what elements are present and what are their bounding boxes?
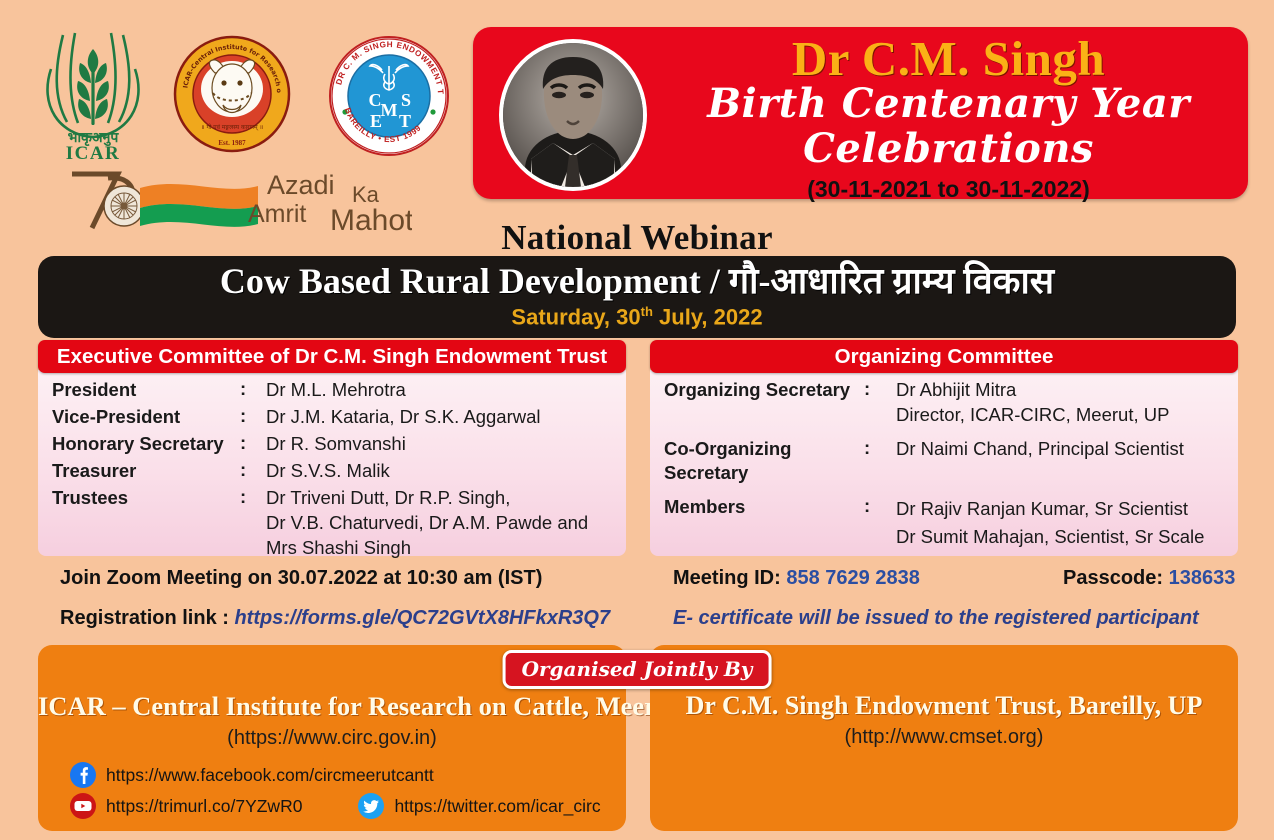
footer-right-url[interactable]: (http://www.cmset.org)	[650, 726, 1238, 749]
row-label: Organizing Secretary	[664, 378, 864, 402]
event-date-superscript: th	[641, 304, 653, 319]
row-label: Members	[664, 495, 864, 519]
row-value: Dr Abhijit Mitra Director, ICAR-CIRC, Me…	[896, 378, 1238, 428]
passcode-line: Passcode: 138633	[1063, 567, 1235, 590]
committee-row: Co-Organizing Secretary : Dr Naimi Chand…	[664, 437, 1238, 486]
row-value: Dr Rajiv Ranjan Kumar, Sr Scientist Dr S…	[896, 495, 1238, 552]
row-colon: :	[864, 495, 896, 517]
row-colon: :	[240, 459, 266, 481]
icar-logo: भाकृअनुप ICAR	[33, 27, 153, 162]
executive-committee-panel: Executive Committee of Dr C.M. Singh End…	[38, 340, 626, 556]
azadi-word-azadi: Azadi	[267, 170, 335, 200]
social-row: https://trimurl.co/7YZwR0 https://twitte…	[70, 793, 626, 819]
webinar-poster: भाकृअनुप ICAR ॥ गो एवं मङ्गलस्य कारणम् ॥…	[0, 0, 1274, 840]
row-label: Honorary Secretary	[52, 432, 240, 456]
certificate-note: E- certificate will be issued to the reg…	[673, 607, 1199, 630]
organised-jointly-by-badge: Organised Jointly By	[503, 650, 772, 689]
row-value: Dr Naimi Chand, Principal Scientist	[896, 437, 1238, 462]
committee-row: Organizing Secretary : Dr Abhijit Mitra …	[664, 378, 1238, 428]
doctor-name: Dr C.M. Singh	[659, 33, 1238, 84]
doctor-portrait	[499, 39, 647, 191]
row-label: President	[52, 378, 240, 402]
circ-logo: ॥ गो एवं मङ्गलस्य कारणम् ॥ Est. 1987 ICA…	[173, 33, 291, 155]
committee-row: Members : Dr Rajiv Ranjan Kumar, Sr Scie…	[664, 495, 1238, 552]
registration-label: Registration link :	[60, 607, 234, 629]
facebook-icon[interactable]	[70, 762, 96, 788]
centenary-date-range: (30-11-2021 to 30-11-2022)	[659, 176, 1238, 203]
centenary-banner: Dr C.M. Singh Birth Centenary Year Celeb…	[473, 27, 1248, 199]
footer-right-title: Dr C.M. Singh Endowment Trust, Bareilly,…	[650, 691, 1238, 721]
footer-left-title: ICAR – Central Institute for Research on…	[38, 691, 626, 722]
row-label: Co-Organizing Secretary	[664, 437, 864, 486]
organizing-committee-panel: Organizing Committee Organizing Secretar…	[650, 340, 1238, 556]
cmset-logo: C S M E T DR C. M. SINGH ENDOWMENT TRUST…	[328, 32, 450, 160]
row-colon: :	[240, 486, 266, 508]
event-kicker: National Webinar	[0, 218, 1274, 258]
youtube-icon[interactable]	[70, 793, 96, 819]
footer-left-url[interactable]: (https://www.circ.gov.in)	[38, 727, 626, 750]
row-colon: :	[240, 405, 266, 427]
twitter-icon[interactable]	[358, 793, 384, 819]
meeting-info: Join Zoom Meeting on 30.07.2022 at 10:30…	[0, 563, 1274, 641]
social-links: https://www.facebook.com/circmeerutcantt…	[70, 762, 626, 819]
row-value: Dr R. Somvanshi	[266, 432, 626, 457]
committee-row: Vice-President : Dr J.M. Kataria, Dr S.K…	[52, 405, 626, 430]
icar-acronym: ICAR	[66, 143, 121, 162]
cmset-letter-t: T	[399, 111, 411, 131]
cmset-letter-e: E	[370, 111, 382, 131]
meeting-id-value: 858 7629 2838	[786, 567, 919, 589]
row-value: Dr Triveni Dutt, Dr R.P. Singh, Dr V.B. …	[266, 486, 626, 561]
committee-row: Trustees : Dr Triveni Dutt, Dr R.P. Sing…	[52, 486, 626, 561]
zoom-join-text: Join Zoom Meeting on 30.07.2022 at 10:30…	[60, 567, 542, 590]
centenary-title: Birth Centenary Year Celebrations	[659, 82, 1238, 172]
committee-row: President : Dr M.L. Mehrotra	[52, 378, 626, 403]
executive-committee-heading: Executive Committee of Dr C.M. Singh End…	[38, 340, 626, 373]
twitter-url[interactable]: https://twitter.com/icar_circ	[394, 793, 600, 819]
social-row: https://www.facebook.com/circmeerutcantt	[70, 762, 626, 788]
passcode-value: 138633	[1169, 567, 1236, 589]
row-colon: :	[864, 437, 896, 459]
organizing-committee-heading: Organizing Committee	[650, 340, 1238, 373]
youtube-url[interactable]: https://trimurl.co/7YZwR0	[106, 793, 302, 819]
row-colon: :	[240, 432, 266, 454]
circ-motto: ॥ गो एवं मङ्गलस्य कारणम् ॥	[201, 123, 263, 131]
registration-line: Registration link : https://forms.gle/QC…	[60, 607, 610, 630]
row-value: Dr S.V.S. Malik	[266, 459, 626, 484]
event-title: Cow Based Rural Development / गौ-आधारित …	[220, 263, 1054, 301]
event-date-prefix: Saturday, 30	[511, 305, 640, 330]
meeting-id-label: Meeting ID:	[673, 567, 786, 589]
committee-row: Treasurer : Dr S.V.S. Malik	[52, 459, 626, 484]
row-colon: :	[240, 378, 266, 400]
event-date-suffix: July, 2022	[653, 305, 763, 330]
row-label: Trustees	[52, 486, 240, 510]
passcode-label: Passcode:	[1063, 567, 1169, 589]
meeting-id-line: Meeting ID: 858 7629 2838	[673, 567, 920, 590]
row-colon: :	[864, 378, 896, 400]
cmset-letter-m: M	[381, 100, 398, 120]
row-label: Vice-President	[52, 405, 240, 429]
event-title-bar: Cow Based Rural Development / गौ-आधारित …	[38, 256, 1236, 338]
cmset-letter-s: S	[401, 90, 411, 110]
facebook-url[interactable]: https://www.facebook.com/circmeerutcantt	[106, 762, 434, 788]
committee-row: Honorary Secretary : Dr R. Somvanshi	[52, 432, 626, 457]
registration-link[interactable]: https://forms.gle/QC72GVtX8HFkxR3Q7	[234, 607, 610, 629]
circ-established: Est. 1987	[218, 139, 246, 147]
row-value: Dr J.M. Kataria, Dr S.K. Aggarwal	[266, 405, 626, 430]
event-date: Saturday, 30th July, 2022	[511, 304, 762, 330]
row-label: Treasurer	[52, 459, 240, 483]
row-value: Dr M.L. Mehrotra	[266, 378, 626, 403]
